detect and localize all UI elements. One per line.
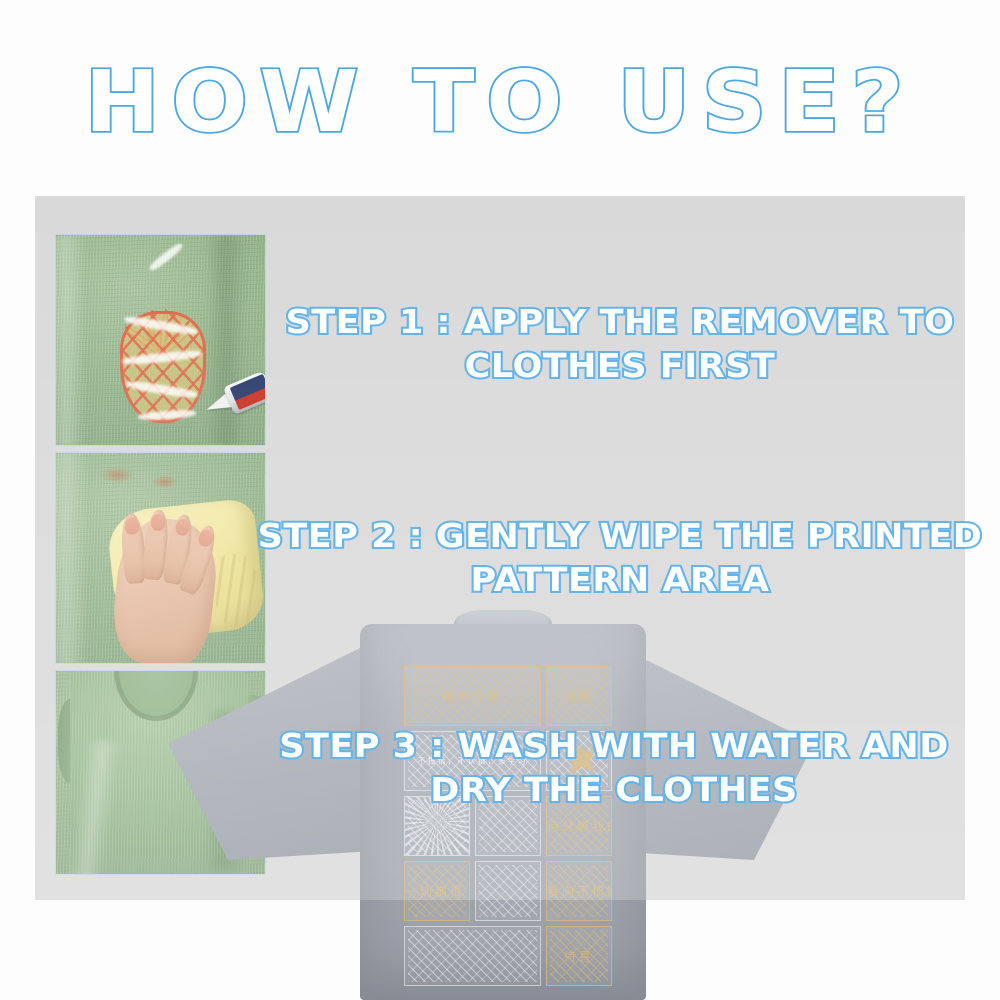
print-residue bbox=[152, 475, 178, 489]
print-panel: 待喜 bbox=[546, 926, 612, 986]
fabric-fold bbox=[55, 453, 88, 664]
print-panel-text: 待喜 bbox=[547, 948, 611, 965]
page-title: HOW TO USE? bbox=[85, 57, 916, 146]
pineapple-print bbox=[108, 249, 218, 429]
title-area: HOW TO USE? bbox=[0, 62, 1000, 142]
print-residue bbox=[100, 467, 134, 483]
step-text-group: STEP 1 : APPLY THE REMOVER TO CLOTHES FI… bbox=[270, 196, 970, 900]
step-1-photo bbox=[55, 234, 266, 446]
print-panel bbox=[404, 926, 541, 986]
step-3-label: STEP 3 : WASH WITH WATER AND DRY THE CLO… bbox=[243, 724, 985, 812]
how-to-use-infographic: HOW TO USE? 精神日报 国报 不报错，不认错，多学习 待分解我的痛苦 bbox=[0, 0, 1000, 1000]
fabric-fold bbox=[55, 235, 86, 446]
step-1-label: STEP 1 : APPLY THE REMOVER TO CLOTHES FI… bbox=[249, 300, 991, 388]
step-2-label: STEP 2 : GENTLY WIPE THE PRINTED PATTERN… bbox=[249, 514, 991, 602]
